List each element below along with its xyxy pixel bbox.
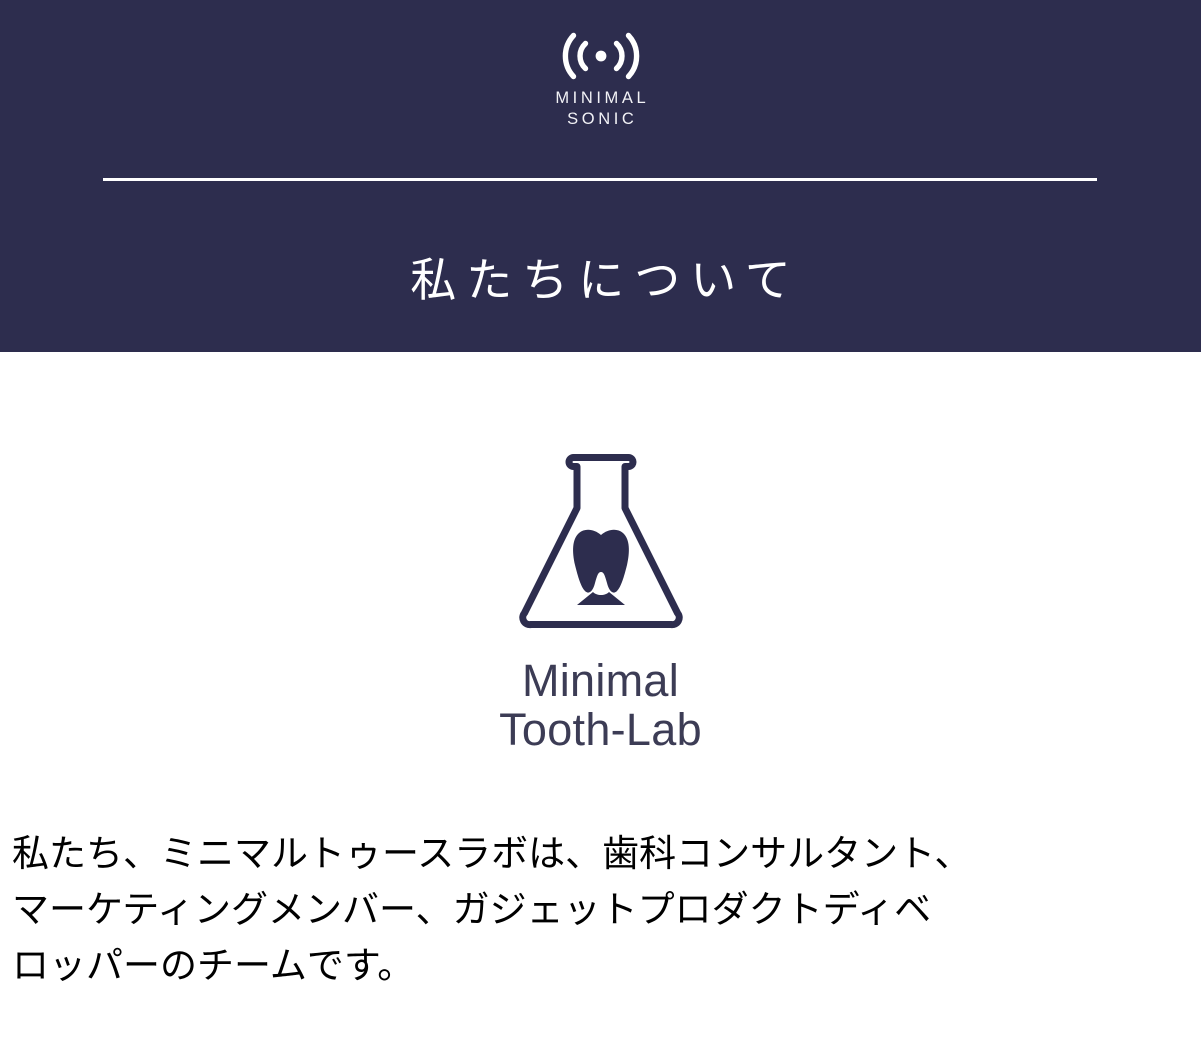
lab-logo-block: Minimal Tooth-Lab bbox=[0, 446, 1201, 754]
brand-name: MINIMAL SONIC bbox=[0, 88, 1201, 130]
sonic-wave-icon bbox=[555, 30, 647, 82]
about-page: MINIMAL SONIC 私たちについて Minimal Tooth-Lab … bbox=[0, 0, 1201, 1061]
page-header: MINIMAL SONIC 私たちについて bbox=[0, 0, 1201, 352]
about-paragraph: 私たち、ミニマルトゥースラボは、歯科コンサルタント、 マーケティングメンバー、ガ… bbox=[12, 826, 1197, 994]
brand-lockup: MINIMAL SONIC bbox=[0, 30, 1201, 130]
lab-name-line-2: Tooth-Lab bbox=[0, 705, 1201, 754]
page-title: 私たちについて bbox=[0, 249, 1201, 311]
flask-with-tooth-icon bbox=[501, 446, 701, 646]
lab-name: Minimal Tooth-Lab bbox=[0, 656, 1201, 754]
lab-name-line-1: Minimal bbox=[0, 656, 1201, 705]
paragraph-line-3: ロッパーのチームです。 bbox=[12, 938, 1197, 994]
brand-name-line-2: SONIC bbox=[0, 109, 1201, 130]
paragraph-line-2: マーケティングメンバー、ガジェットプロダクトディベ bbox=[12, 882, 1197, 938]
brand-name-line-1: MINIMAL bbox=[0, 88, 1201, 109]
paragraph-line-1: 私たち、ミニマルトゥースラボは、歯科コンサルタント、 bbox=[12, 826, 1197, 882]
header-divider bbox=[103, 178, 1097, 181]
